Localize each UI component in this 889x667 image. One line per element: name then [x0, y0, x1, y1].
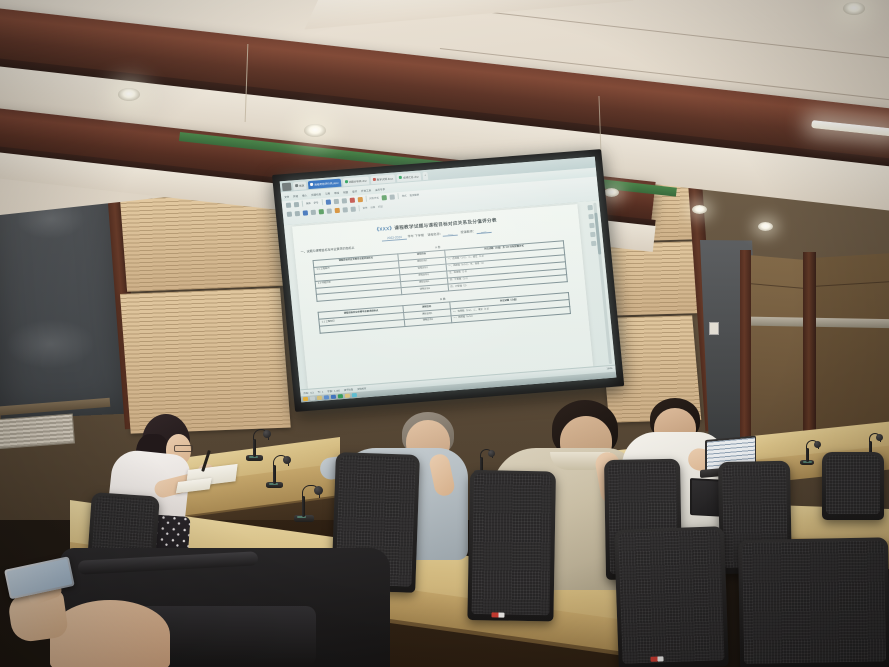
wps-tab-label: 试题分析表.xlsx [348, 178, 366, 183]
toolbar-separator [365, 196, 367, 202]
toolbar-separator [358, 205, 360, 211]
collaborate-button[interactable]: 协作 [362, 206, 367, 210]
downlight-1 [118, 88, 140, 101]
subtitle-teacher-label: 授课教师： [460, 229, 476, 234]
status-proofread[interactable]: 文档校对 [357, 386, 367, 391]
font-color-icon[interactable] [349, 197, 354, 202]
wall-trim-far-right [740, 250, 751, 450]
menu-item-insert[interactable]: 插入 [302, 193, 307, 197]
wps-tab-4[interactable]: 成绩汇总.xlsx [397, 172, 421, 182]
underline-icon[interactable] [341, 198, 346, 203]
wps-tab-label: 首页 [299, 183, 305, 187]
ocr-icon[interactable] [591, 241, 596, 246]
bullet-list-icon[interactable] [382, 195, 387, 200]
photographer-leg [50, 600, 170, 667]
subtitle-course-value: ___ [443, 231, 459, 237]
share-button[interactable]: 分享 [370, 205, 375, 209]
shape-icon[interactable] [319, 209, 324, 214]
status-spellcheck[interactable]: 拼写检查 [344, 387, 354, 392]
document-title-bracket: 《XXX》 [374, 226, 394, 233]
styles-group-label[interactable]: 样式 [402, 194, 407, 198]
wps-app-button[interactable] [282, 182, 292, 191]
meeting-room-photo: 首页 课程考核评价表.docx 试题分析表.xlsx 教学大纲.docx 成绩汇… [0, 0, 889, 667]
mesh-office-chair[interactable] [822, 452, 884, 520]
paste-icon[interactable] [286, 202, 291, 207]
glasses-icon [174, 445, 193, 452]
menu-item-file[interactable]: 文件 [284, 194, 289, 198]
symbol-icon[interactable] [350, 206, 355, 211]
status-zoom-level[interactable]: 100% [607, 368, 613, 370]
chair-label [491, 612, 504, 617]
redo-icon[interactable] [295, 210, 300, 215]
downlight-3 [604, 188, 619, 197]
downlight-6 [843, 2, 865, 15]
browser-icon[interactable] [324, 395, 329, 399]
document-canvas[interactable]: 《XXX》课程教学试题与课程目标对应关系及分值评分表 2023-2024 学年 … [284, 200, 615, 390]
projection-screen[interactable]: 首页 课程考核评价表.docx 试题分析表.xlsx 教学大纲.docx 成绩汇… [272, 149, 624, 412]
italic-icon[interactable] [333, 198, 338, 203]
mesh-office-chair[interactable] [614, 526, 729, 667]
menu-item-reference[interactable]: 引用 [325, 191, 330, 195]
navigation-pane-icon[interactable] [588, 214, 593, 219]
subtitle-teacher-value: ___ [476, 228, 492, 234]
wps-tab-label: 课程考核评价表.docx [314, 180, 339, 186]
menu-item-home[interactable]: 开始 [293, 194, 298, 198]
downlight-2 [304, 124, 326, 137]
undo-icon[interactable] [287, 211, 292, 216]
subtitle-course-label: 课程名称： [427, 232, 443, 237]
menu-item-section[interactable]: 章节 [352, 189, 357, 193]
menu-item-developer[interactable]: 开发工具 [361, 188, 371, 193]
menu-item-layout[interactable]: 页面布局 [311, 192, 321, 197]
wall-switch [709, 322, 719, 335]
chart-icon[interactable] [327, 208, 332, 213]
mesh-office-chair[interactable] [738, 537, 889, 667]
slat-panel-lower-left [120, 288, 291, 434]
font-name-box[interactable]: 宋体 [306, 201, 311, 205]
numbered-list-icon[interactable] [390, 194, 395, 199]
toolbar-separator [398, 193, 400, 199]
wps-sheet-icon[interactable] [338, 394, 343, 398]
menu-item-member[interactable]: 会员专享 [375, 187, 385, 192]
toolbar-separator [302, 201, 304, 207]
comment-icon[interactable] [587, 205, 592, 210]
chat-icon[interactable] [352, 393, 357, 397]
menu-item-review[interactable]: 审阅 [334, 190, 339, 194]
selection-pane-icon[interactable] [589, 223, 594, 228]
align-group-label[interactable]: 对齐方式 [369, 196, 379, 201]
bold-icon[interactable] [325, 199, 330, 204]
wps-new-tab-button[interactable]: + [422, 171, 428, 179]
header-footer-icon[interactable] [342, 207, 347, 212]
font-size-box[interactable]: 字号 [313, 200, 318, 204]
corner-column [803, 252, 816, 452]
find-replace-label[interactable]: 查找替换 [409, 193, 419, 198]
toolbar-separator [321, 199, 323, 205]
screen-display[interactable]: 首页 课程考核评价表.docx 试题分析表.xlsx 教学大纲.docx 成绩汇… [280, 157, 617, 403]
picture-icon[interactable] [311, 209, 316, 214]
search-icon[interactable] [310, 396, 315, 400]
wps-tab-label: 成绩汇总.xlsx [403, 174, 419, 179]
explorer-icon[interactable] [317, 396, 322, 400]
folder-icon[interactable] [345, 394, 350, 398]
wps-tab-0[interactable]: 首页 [293, 181, 307, 190]
menu-item-view[interactable]: 视图 [343, 190, 348, 194]
table-icon[interactable] [303, 210, 308, 215]
subtitle-year: 2023-2024 [382, 235, 407, 242]
zoom-tool-icon[interactable] [590, 232, 595, 237]
wps-tab-3[interactable]: 教学大纲.docx [370, 174, 395, 184]
downlight-4 [692, 205, 707, 214]
wps-tab-2[interactable]: 试题分析表.xlsx [342, 176, 369, 186]
chair-label [650, 656, 663, 661]
plus-icon: + [424, 174, 426, 177]
print-button[interactable]: 打印 [378, 204, 383, 208]
highlight-icon[interactable] [357, 196, 362, 201]
downlight-5 [758, 222, 773, 231]
format-painter-icon[interactable] [294, 201, 299, 206]
mesh-office-chair[interactable] [467, 470, 556, 621]
wps-tab-label: 教学大纲.docx [376, 176, 393, 181]
textbox-icon[interactable] [334, 207, 339, 212]
document-page[interactable]: 《XXX》课程教学试题与课程目标对应关系及分值评分表 2023-2024 学年 … [292, 204, 593, 390]
status-section: 节：1 [317, 390, 323, 394]
start-icon[interactable] [303, 397, 308, 401]
wps-writer-icon[interactable] [331, 395, 336, 399]
subtitle-term: 学年 下学期 [407, 233, 424, 238]
